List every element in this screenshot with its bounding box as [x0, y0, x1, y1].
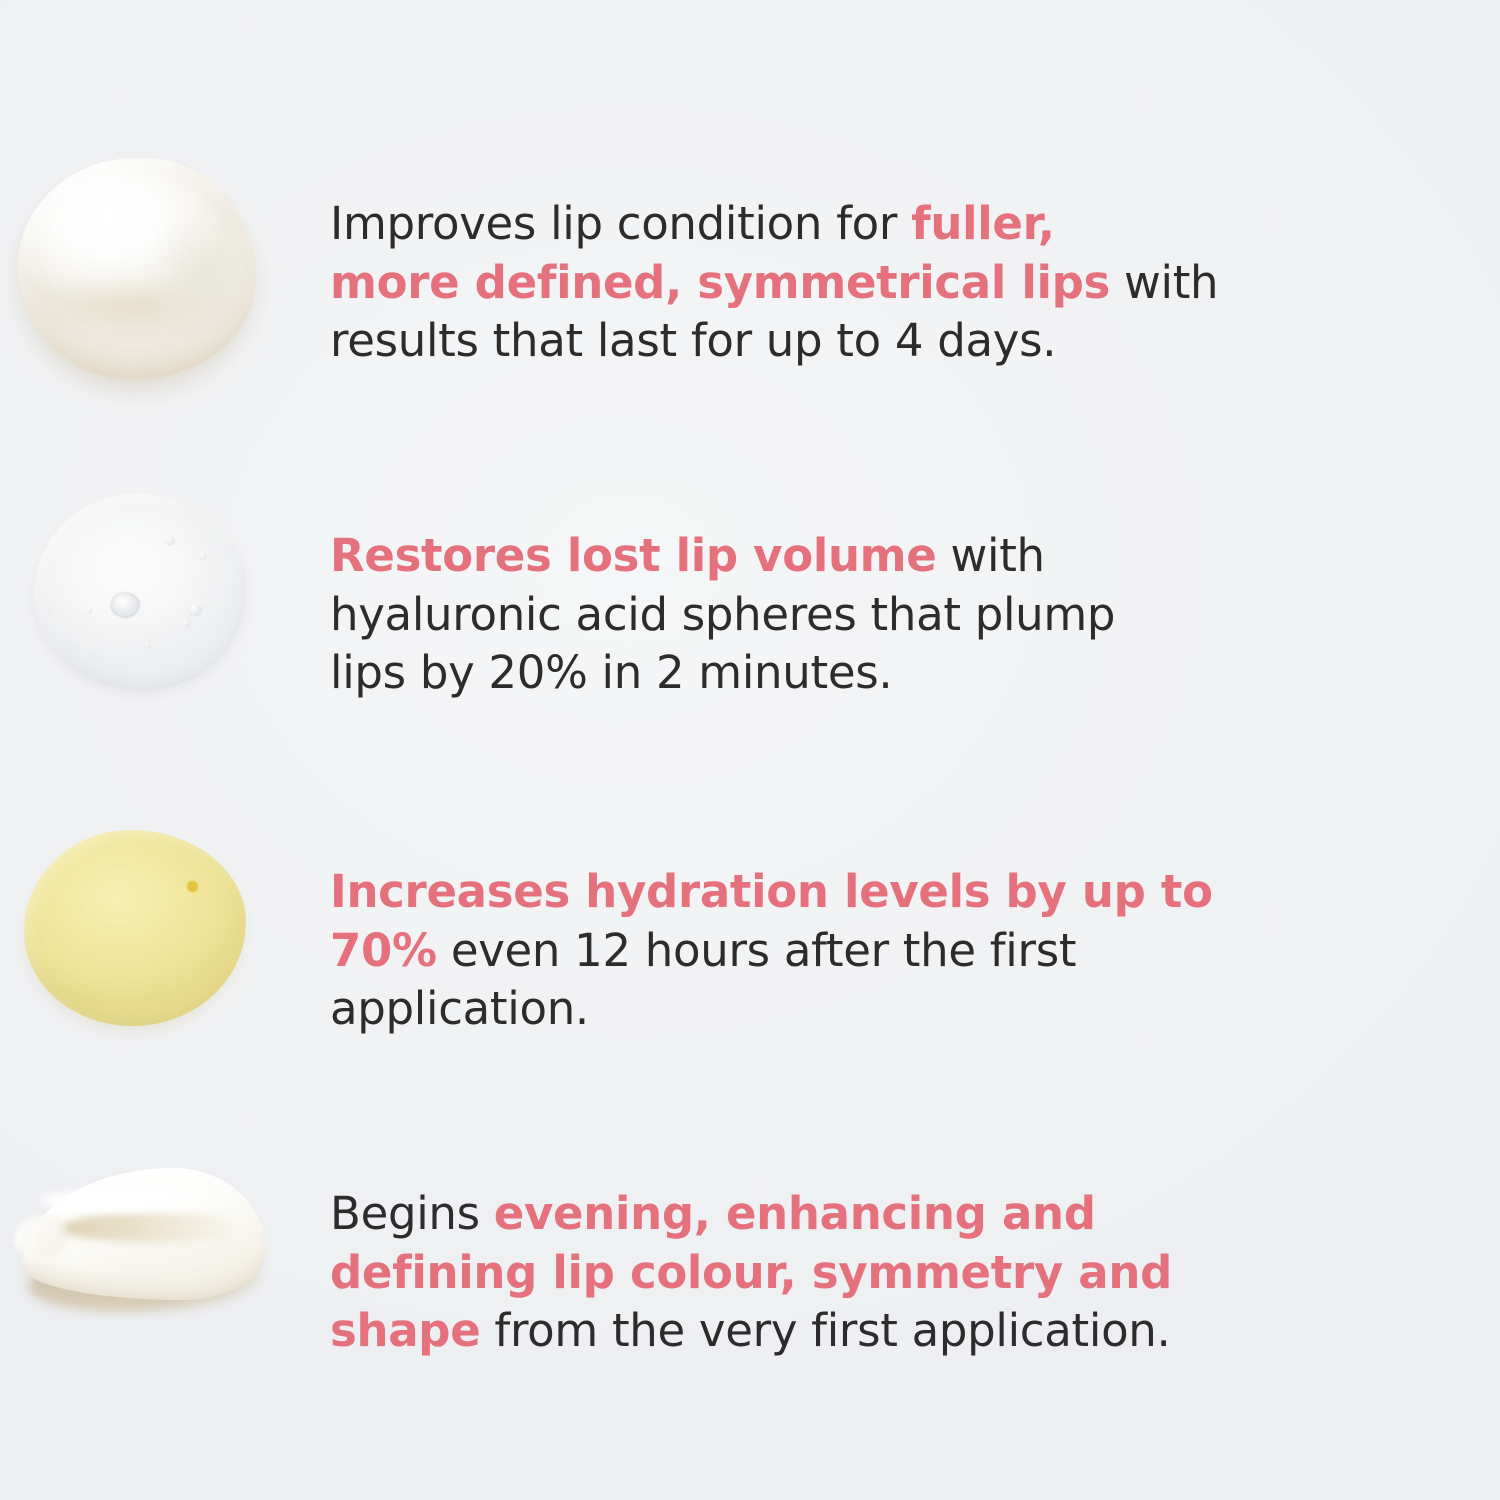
swatch-cell	[0, 818, 330, 1078]
benefit-row: Improves lip condition for fuller,more d…	[0, 150, 1500, 416]
highlighted-text: defining lip colour, symmetry and	[330, 1246, 1172, 1299]
gel-bubble-icon	[199, 553, 207, 560]
highlighted-text: 70%	[330, 924, 437, 977]
text-cell: Increases hydration levels by up to70% e…	[330, 818, 1500, 1084]
text-cell: Begins evening, enhancing anddefining li…	[330, 1140, 1500, 1406]
plain-text: Improves lip condition for	[330, 197, 911, 250]
benefits-infographic: Improves lip condition for fuller,more d…	[0, 0, 1500, 1500]
text-cell: Restores lost lip volume withhyaluronic …	[330, 482, 1500, 748]
gel-bubble-icon	[144, 643, 150, 649]
plain-text: results that last for up to 4 days.	[330, 314, 1056, 367]
benefit-text: Improves lip condition for fuller,more d…	[330, 195, 1440, 371]
plain-text: from the very first application.	[480, 1304, 1170, 1357]
cream-swipe-swatch	[14, 1162, 266, 1332]
benefit-text: Begins evening, enhancing anddefining li…	[330, 1185, 1440, 1361]
benefit-text: Restores lost lip volume withhyaluronic …	[330, 527, 1440, 703]
swipe-tail	[14, 1214, 68, 1258]
swatch-cell	[0, 482, 330, 742]
highlighted-text: shape	[330, 1304, 480, 1357]
yellow-oil-puddle-swatch	[24, 830, 246, 1026]
benefit-row: Increases hydration levels by up to70% e…	[0, 818, 1500, 1084]
plain-text: application.	[330, 982, 589, 1035]
plain-text: hyaluronic acid spheres that plump	[330, 588, 1115, 641]
highlighted-text: Increases hydration levels by up to	[330, 865, 1213, 918]
plain-text: lips by 20% in 2 minutes.	[330, 646, 892, 699]
plain-text: Begins	[330, 1187, 494, 1240]
highlighted-text: evening, enhancing and	[494, 1187, 1096, 1240]
swipe-groove	[60, 1212, 236, 1242]
highlighted-text: Restores lost lip volume	[330, 529, 937, 582]
benefit-row: Restores lost lip volume withhyaluronic …	[0, 482, 1500, 748]
benefit-text: Increases hydration levels by up to70% e…	[330, 863, 1440, 1039]
plain-text: with	[1110, 256, 1218, 309]
plain-text: with	[937, 529, 1045, 582]
gel-bubble-icon	[85, 608, 92, 614]
plain-text: even 12 hours after the first	[437, 924, 1076, 977]
swatch-cell	[0, 150, 330, 410]
gel-bubble-icon	[165, 537, 175, 546]
highlighted-text: more defined, symmetrical lips	[330, 256, 1110, 309]
gel-bubble-icon	[182, 619, 191, 627]
swatch-cell	[0, 1140, 330, 1400]
text-cell: Improves lip condition for fuller,more d…	[330, 150, 1500, 416]
highlighted-text: fuller,	[911, 197, 1055, 250]
swipe-ridge	[40, 1188, 236, 1212]
clear-gel-drop-swatch	[34, 494, 246, 690]
white-cream-dollop-swatch	[18, 158, 256, 380]
benefit-row: Begins evening, enhancing anddefining li…	[0, 1140, 1500, 1406]
